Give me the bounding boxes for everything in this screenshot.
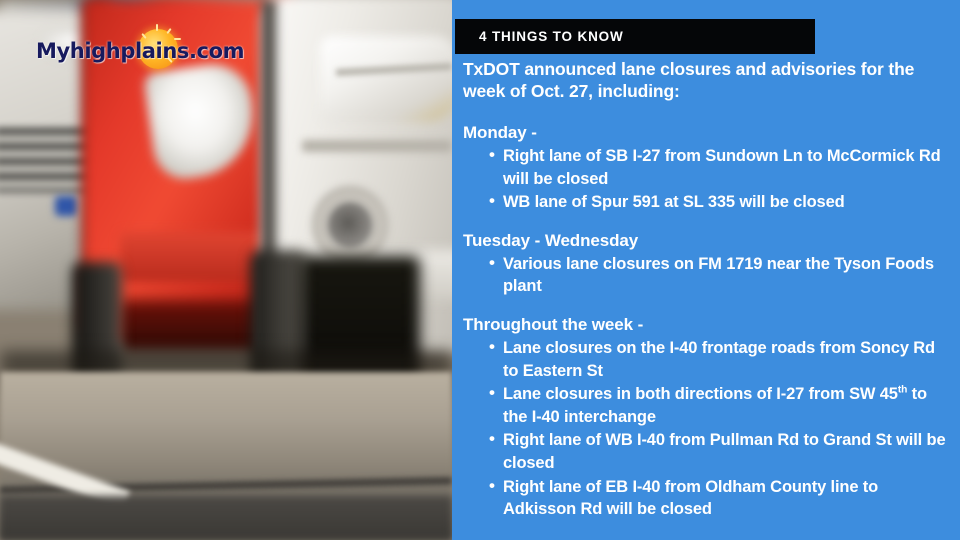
closure-list: Right lane of SB I-27 from Sundown Ln to… (463, 145, 948, 214)
list-item: Various lane closures on FM 1719 near th… (463, 253, 948, 298)
station-logo-text: Myhighplains.com (36, 39, 244, 63)
closure-list: Various lane closures on FM 1719 near th… (463, 253, 948, 298)
closure-list: Lane closures on the I-40 frontage roads… (463, 337, 948, 521)
news-graphic-screen: Myhighplains.com 4 THINGS TO KNOW TxDOT … (0, 0, 960, 540)
background-photo: Myhighplains.com (0, 0, 452, 540)
header-bar: 4 THINGS TO KNOW (455, 19, 815, 54)
list-item: Lane closures in both directions of I-27… (463, 383, 948, 428)
photo-white-suv-fog-lamp-inner (330, 204, 370, 246)
day-section: Monday -Right lane of SB I-27 from Sundo… (463, 122, 948, 214)
photo-white-suv-grille (302, 140, 452, 152)
sections-container: Monday -Right lane of SB I-27 from Sundo… (463, 122, 948, 521)
list-item: Right lane of EB I-40 from Oldham County… (463, 476, 948, 521)
logo-tld: .com (189, 39, 244, 63)
day-section: Throughout the week -Lane closures on th… (463, 314, 948, 521)
photo-road-foreground (0, 496, 452, 540)
info-panel: 4 THINGS TO KNOW TxDOT announced lane cl… (452, 0, 960, 540)
day-heading: Throughout the week - (463, 314, 948, 336)
day-section: Tuesday - WednesdayVarious lane closures… (463, 230, 948, 298)
list-item: WB lane of Spur 591 at SL 335 will be cl… (463, 191, 948, 214)
page-title: 4 THINGS TO KNOW (455, 29, 624, 44)
logo-name: Myhighplains (36, 39, 189, 63)
photo-silver-car-badge (55, 196, 77, 216)
panel-content: TxDOT announced lane closures and adviso… (452, 58, 960, 521)
day-heading: Tuesday - Wednesday (463, 230, 948, 252)
intro-paragraph: TxDOT announced lane closures and adviso… (463, 58, 948, 102)
list-item: Lane closures on the I-40 frontage roads… (463, 337, 948, 382)
day-heading: Monday - (463, 122, 948, 144)
list-item: Right lane of WB I-40 from Pullman Rd to… (463, 429, 948, 474)
station-logo[interactable]: Myhighplains.com (36, 36, 244, 66)
list-item: Right lane of SB I-27 from Sundown Ln to… (463, 145, 948, 190)
photo-white-suv-headlight (320, 36, 452, 122)
